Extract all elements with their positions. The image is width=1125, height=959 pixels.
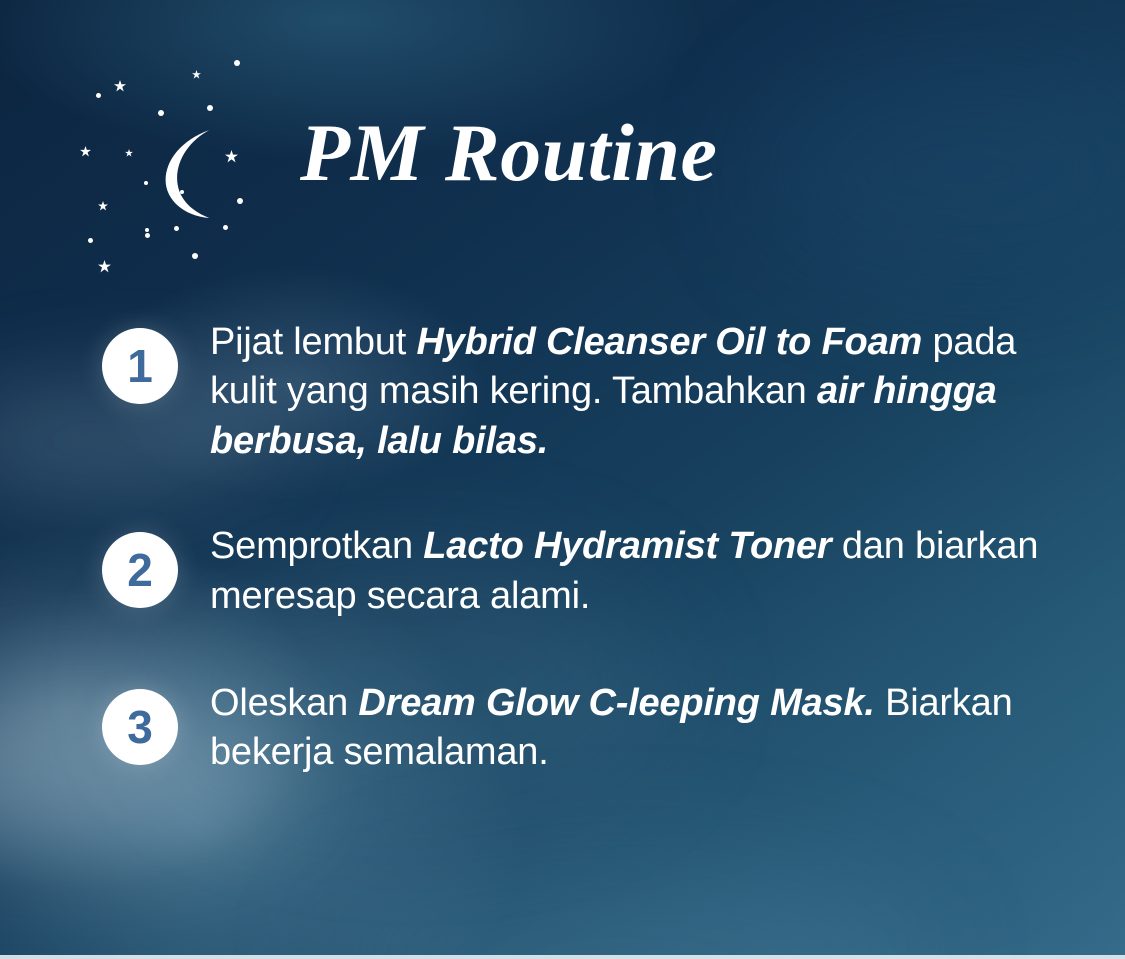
star-icon [98,201,108,211]
page-title: PM Routine [300,112,717,194]
star-dot-icon [192,253,198,259]
step-text: Oleskan Dream Glow C-leeping Mask. Biark… [210,679,1090,778]
cloud-glow-4 [330,860,930,959]
pm-routine-poster: PM Routine 1 Pijat lembut Hybrid Cleanse… [0,0,1125,959]
step-number-badge: 3 [102,689,178,765]
star-dot-icon [145,233,150,238]
list-item: 3 Oleskan Dream Glow C-leeping Mask. Bia… [0,679,1125,778]
step-number-badge: 2 [102,532,178,608]
star-dot-icon [145,228,149,232]
poster-header: PM Routine [0,0,1125,300]
star-icon [114,80,126,92]
step-text: Semprotkan Lacto Hydramist Toner dan bia… [210,522,1090,621]
step-number-badge: 1 [102,328,178,404]
star-dot-icon [96,93,101,98]
star-icon [98,260,111,273]
star-icon [192,70,201,79]
star-icon [80,146,91,157]
star-dot-icon [223,225,228,230]
star-dot-icon [234,60,240,66]
star-dot-icon [237,198,243,204]
step-text: Pijat lembut Hybrid Cleanser Oil to Foam… [210,318,1090,466]
list-item: 1 Pijat lembut Hybrid Cleanser Oil to Fo… [0,318,1125,466]
star-icon [225,150,238,163]
list-item: 2 Semprotkan Lacto Hydramist Toner dan b… [0,522,1125,621]
star-dot-icon [88,238,93,243]
bottom-edge-strip [0,955,1125,959]
star-dot-icon [158,110,164,116]
steps-list: 1 Pijat lembut Hybrid Cleanser Oil to Fo… [0,318,1125,778]
star-dot-icon [207,105,213,111]
star-dot-icon [174,226,179,231]
crescent-moon-icon [128,128,214,220]
